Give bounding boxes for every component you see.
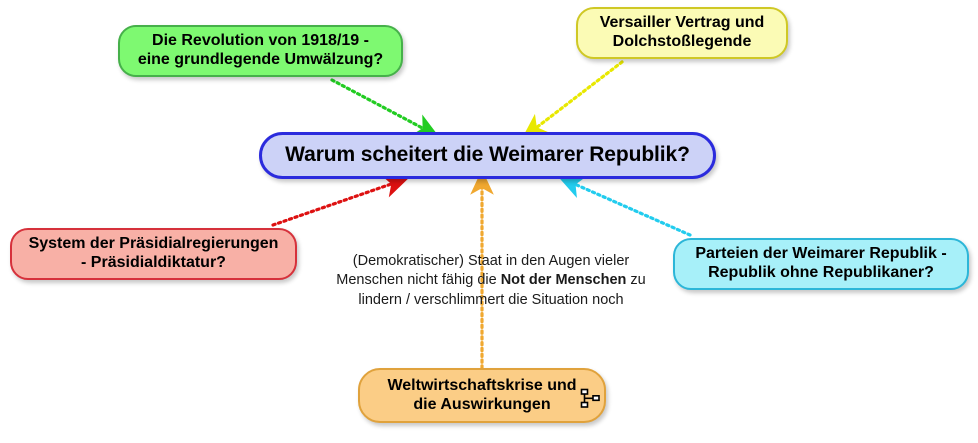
annotation-line-1: (Demokratischer) Staat in den Augen viel… [353,253,629,269]
central-node[interactable]: Warum scheitert die Weimarer Republik? [259,132,716,179]
connector-praesidial [273,182,397,225]
annotation-text[interactable]: (Demokratischer) Staat in den Augen viel… [322,252,660,310]
connector-versailles [532,62,622,131]
annotation-line-2-prefix: Menschen nicht fähig die [336,272,500,288]
connector-parteien [570,182,690,235]
mindmap-canvas: Warum scheitert die Weimarer Republik? D… [0,0,978,443]
branch-node-weltwirtschaftskrise[interactable]: Weltwirtschaftskrise und die Auswirkunge… [358,368,606,423]
annotation-line-3: lindern / verschlimmert die Situation no… [358,292,623,308]
branch-node-revolution[interactable]: Die Revolution von 1918/19 - eine grundl… [118,25,403,77]
branch-node-versailles[interactable]: Versailler Vertrag und Dolchstoßlegende [576,7,788,59]
branch-node-praesidial[interactable]: System der Präsidialregierungen - Präsid… [10,228,297,280]
annotation-line-2-bold: Not der Menschen [501,272,627,288]
branch-node-parteien[interactable]: Parteien der Weimarer Republik - Republi… [673,238,969,290]
connector-revolution [332,80,428,131]
annotation-line-2-suffix: zu [626,272,645,288]
move-resize-cursor-icon [574,385,602,413]
